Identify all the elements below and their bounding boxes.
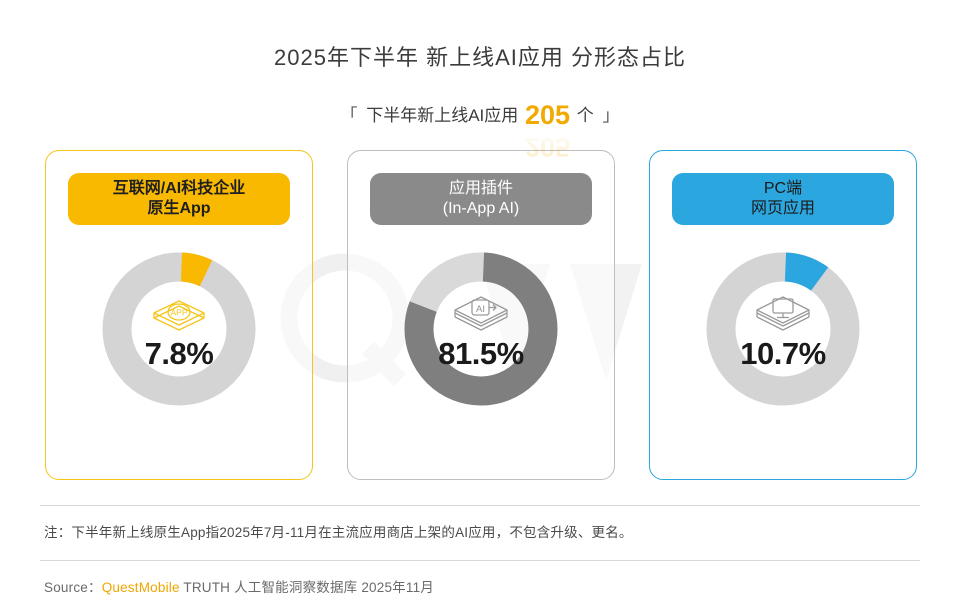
card-pc-web-title-line1: PC端: [764, 179, 802, 199]
donut-pc-web-center: 10.7%: [703, 249, 863, 409]
total-count-highlight: 205: [525, 100, 570, 131]
card-pc-web-header: PC端 网页应用: [672, 173, 894, 225]
card-in-app-ai-title-line1: 应用插件: [449, 179, 513, 199]
svg-text:APP: APP: [170, 308, 187, 318]
footer-divider-top: [40, 505, 920, 506]
card-native-app-title-line1: 互联网/AI科技企业: [113, 179, 245, 199]
donut-native-app-wrap: APP 7.8%: [46, 249, 312, 409]
bracket-right: 」: [603, 106, 620, 125]
donut-in-app-ai: AI 81.5%: [401, 249, 561, 409]
source-brand: QuestMobile: [102, 580, 180, 595]
donut-pc-web: 10.7%: [703, 249, 863, 409]
ai-plus-box-icon: AI: [450, 292, 512, 338]
donut-native-app-center: APP 7.8%: [99, 249, 259, 409]
card-native-app-title-line2: 原生App: [147, 199, 210, 219]
card-pc-web-percent: 10.7%: [740, 336, 825, 372]
footnote: 注：下半年新上线原生App指2025年7月-11月在主流应用商店上架的AI应用，…: [44, 521, 633, 541]
footer-divider-bottom: [40, 560, 920, 561]
card-pc-web-title-line2: 网页应用: [751, 199, 815, 219]
card-pc-web[interactable]: PC端 网页应用: [649, 150, 917, 480]
card-native-app[interactable]: 互联网/AI科技企业 原生App: [45, 150, 313, 480]
app-box-icon: APP: [148, 292, 210, 338]
card-native-app-percent: 7.8%: [145, 336, 214, 372]
card-in-app-ai-percent: 81.5%: [438, 336, 523, 372]
card-in-app-ai-header: 应用插件 (In-App AI): [370, 173, 592, 225]
donut-pc-web-wrap: 10.7%: [650, 249, 916, 409]
source-rest: TRUTH 人工智能洞察数据库 2025年11月: [180, 580, 434, 595]
donut-in-app-ai-wrap: AI 81.5%: [348, 249, 614, 409]
card-in-app-ai[interactable]: 应用插件 (In-App AI): [347, 150, 615, 480]
card-native-app-header: 互联网/AI科技企业 原生App: [68, 173, 290, 225]
subtitle-prefix: 下半年新上线AI应用: [366, 106, 518, 125]
subtitle-unit: 个: [577, 106, 594, 125]
bracket-left: 「: [340, 106, 357, 125]
svg-text:AI: AI: [476, 304, 485, 315]
card-in-app-ai-title-line2: (In-App AI): [443, 199, 519, 219]
page-title: 2025年下半年 新上线AI应用 分形态占比: [0, 40, 960, 72]
cards-container: 互联网/AI科技企业 原生App: [45, 150, 917, 480]
donut-native-app: APP 7.8%: [99, 249, 259, 409]
source-line: Source：QuestMobile TRUTH 人工智能洞察数据库 2025年…: [44, 576, 434, 596]
monitor-box-icon: [752, 292, 814, 338]
subtitle: 「 下半年新上线AI应用 205 个 」: [0, 100, 960, 131]
source-prefix: Source：: [44, 580, 102, 595]
donut-in-app-ai-center: AI 81.5%: [401, 249, 561, 409]
